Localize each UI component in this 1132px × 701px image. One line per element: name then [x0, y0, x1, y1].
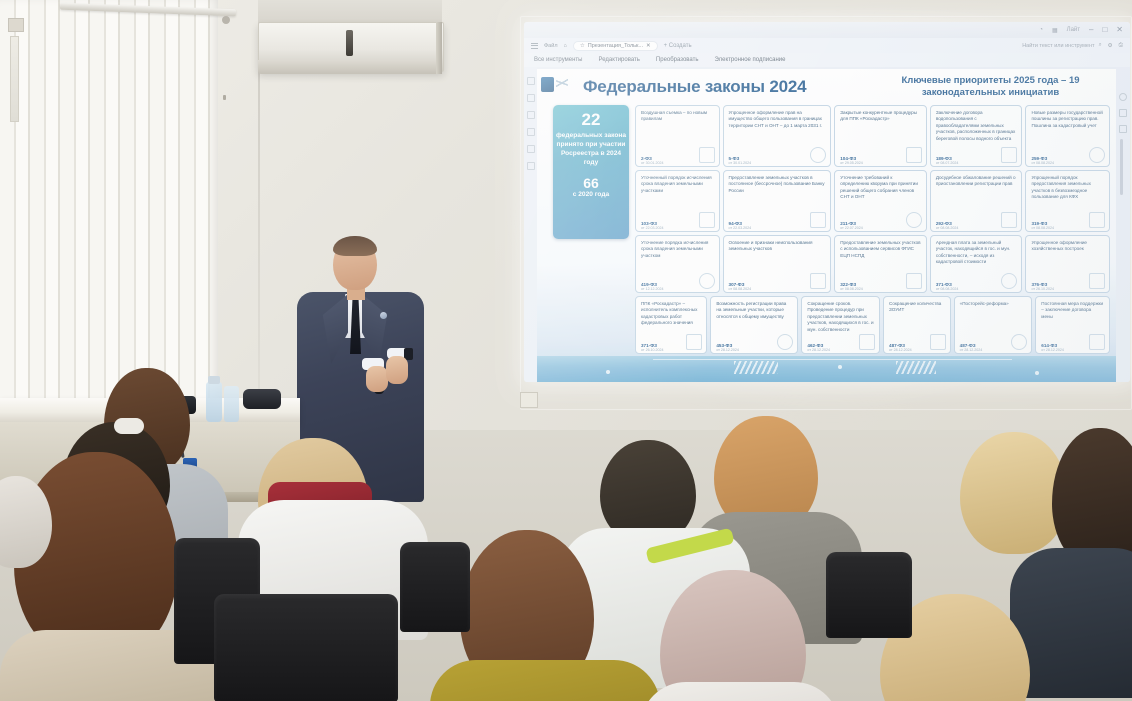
law-card[interactable]: Упрощенное оформление хозяйственных пост…: [1025, 235, 1110, 293]
stat-highlight-box: 22 федеральных закона принято при участи…: [553, 105, 629, 239]
law-card[interactable]: Освоение и признаки неиспользования земе…: [723, 235, 832, 293]
law-card-text: Воздушная съемка – по новым правилам: [641, 110, 714, 123]
law-card-date: от 26.10.2024: [1031, 287, 1054, 292]
window-titlebar: ◔ ▦ Лайт – □ ✕: [524, 22, 1130, 38]
law-card-date: от 22.03.2024: [729, 226, 752, 231]
logo-mark-icon: [556, 75, 568, 91]
lock-icon: [930, 334, 946, 350]
wall-socket: [520, 392, 538, 408]
rosreestr-logo: [541, 73, 567, 99]
drone-icon: [699, 147, 715, 163]
law-card-text: Упрощенное оформление прав на имущество …: [729, 110, 826, 129]
search-page-icon[interactable]: [1119, 93, 1127, 101]
chair-far-right: [826, 552, 912, 638]
law-card[interactable]: Сокращение количества ЗОУИТ487-ФЗот 28.1…: [883, 296, 951, 354]
law-card[interactable]: ППК «Роскадастр» – исполнитель комплексн…: [635, 296, 707, 354]
ac-display-icon: [346, 30, 353, 56]
law-cards-row: Уточненный порядок исчисления срока влад…: [635, 170, 1110, 232]
sprout-icon: [810, 273, 826, 289]
comment-icon[interactable]: [527, 94, 535, 102]
speaker-hand-left: [366, 366, 388, 392]
money-bag-icon: [1089, 147, 1105, 163]
highlight-icon[interactable]: [527, 111, 535, 119]
law-card[interactable]: Воздушная съемка – по новым правилам2-ФЗ…: [635, 105, 720, 167]
ac-louver: [258, 60, 442, 74]
law-card-date: от 08.07.2024: [936, 161, 959, 166]
footer-hatch-left: [734, 361, 778, 374]
maximize-button[interactable]: □: [1102, 26, 1107, 34]
wall-screw: [223, 95, 226, 100]
menu-item-edit[interactable]: Редактировать: [598, 57, 639, 63]
stat-caption: федеральных закона принято при участии Р…: [556, 131, 626, 167]
law-card[interactable]: Досудебное обжалование решений о приоста…: [930, 170, 1023, 232]
menu-icon[interactable]: [531, 43, 538, 49]
menu-item-convert[interactable]: Преобразовать: [656, 57, 699, 63]
law-card-text: Уточненный порядок исчисления срока влад…: [641, 175, 714, 194]
law-card[interactable]: Заключение договора водопользования с пр…: [930, 105, 1023, 167]
law-card[interactable]: Уточнение требований к определению квору…: [834, 170, 927, 232]
menu-item-all-tools[interactable]: Все инструменты: [534, 57, 582, 63]
law-cards-grid: Воздушная съемка – по новым правилам2-ФЗ…: [635, 105, 1110, 354]
footer-line: [653, 359, 1012, 360]
law-card-date: от 08.08.2024: [936, 287, 959, 292]
law-card[interactable]: Постоянная мера поддержки – заключение д…: [1035, 296, 1110, 354]
footer-dot-1: [606, 370, 610, 374]
law-card-date: от 08.08.2024: [1031, 226, 1054, 231]
law-card-text: Уточнение порядка исчисления срока владе…: [641, 240, 714, 259]
speaker-lapel-pin: [380, 312, 387, 319]
law-cards-row: ППК «Роскадастр» – исполнитель комплексн…: [635, 296, 1110, 354]
survey-icon: [686, 334, 702, 350]
law-card-text: Упрощенный порядок предоставления земель…: [1031, 175, 1104, 201]
law-card-text: Предоставление земельных участков в пост…: [729, 175, 826, 194]
people-icon: [906, 212, 922, 228]
law-card-date: от 28.12.2024: [889, 348, 912, 353]
law-card-date: от 30.01.2024: [729, 161, 752, 166]
hair-clip: [114, 418, 144, 434]
rotate-icon[interactable]: [1119, 125, 1127, 133]
law-card-text: Упрощенное оформление хозяйственных пост…: [1031, 240, 1104, 253]
app-name: Лайт: [1067, 27, 1080, 33]
home-plus-icon: [777, 334, 793, 350]
law-card[interactable]: Возможность регистрации права на земельн…: [710, 296, 798, 354]
law-card-text: Новые размеры государственной пошлины за…: [1031, 110, 1104, 129]
gavel-icon: [906, 147, 922, 163]
law-card-text: ППК «Роскадастр» – исполнитель комплексн…: [641, 301, 701, 327]
footer-hatch-right: [896, 361, 936, 374]
law-card-date: от 08.08.2024: [1031, 161, 1054, 166]
law-card[interactable]: Уточнение порядка исчисления срока владе…: [635, 235, 720, 293]
law-card[interactable]: Сокращение сроков. Проведение процедур п…: [801, 296, 880, 354]
search-box[interactable]: Найти текст или инструмент ⌕: [1022, 42, 1101, 49]
law-card-date: от 28.12.2024: [1041, 348, 1064, 353]
print-icon[interactable]: ⎙: [1119, 42, 1123, 49]
law-card-date: от 08.08.2024: [840, 287, 863, 292]
menu-item-esign[interactable]: Электронное подписание: [715, 57, 786, 63]
law-card-text: Предоставление земельных участков с испо…: [840, 240, 921, 259]
left-tool-rail[interactable]: [524, 67, 537, 382]
law-card[interactable]: Уточненный порядок исчисления срока влад…: [635, 170, 720, 232]
account-icon[interactable]: ◔: [1039, 27, 1043, 33]
law-card-date: от 30.01.2024: [641, 161, 664, 166]
close-button[interactable]: ✕: [1116, 26, 1123, 34]
law-card-date: от 22.07.2024: [840, 226, 863, 231]
right-tool-rail[interactable]: [1116, 67, 1130, 382]
air-conditioner: [258, 0, 442, 92]
law-card-date: от 28.12.2024: [716, 348, 739, 353]
wall-plate: [8, 18, 24, 32]
law-card-date: от 22.03.2024: [641, 226, 664, 231]
field-icon: [1089, 212, 1105, 228]
law-card[interactable]: «Посторейс-реформа»487-ФЗот 28.12.2024: [954, 296, 1033, 354]
tab-star-icon: ☆: [580, 43, 585, 49]
gear-icon[interactable]: ⚙: [1108, 43, 1113, 49]
chair-right: [400, 542, 470, 632]
law-card-date: от 28.12.2024: [807, 348, 830, 353]
ac-side-edge: [436, 22, 442, 74]
stat-number-secondary: 66: [556, 176, 626, 190]
fast-icon: [859, 334, 875, 350]
file-menu-label[interactable]: Файл: [544, 43, 558, 49]
home-icon[interactable]: ⌂: [564, 43, 567, 49]
document-tab[interactable]: ☆ Презентация_Тольк... ✕: [573, 41, 658, 51]
map-icon: [906, 273, 922, 289]
law-cards-row: Воздушная съемка – по новым правилам2-ФЗ…: [635, 105, 1110, 167]
law-card-text: Сокращение сроков. Проведение процедур п…: [807, 301, 874, 333]
law-card-date: от 29.05.2024: [840, 161, 863, 166]
law-card-text: Закрытые конкурентные процедуры для ППК …: [840, 110, 921, 123]
speaker-hair: [333, 236, 377, 256]
clock-icon: [699, 212, 715, 228]
new-tab-button[interactable]: + Создать: [664, 43, 692, 49]
stat-number: 22: [556, 111, 626, 128]
ac-top-panel: [258, 0, 442, 24]
document-viewport: Федеральные законы 2024 Ключевые приорит…: [524, 67, 1130, 382]
logo-box-icon: [541, 77, 554, 92]
vertical-blinds: [0, 0, 218, 412]
scales-icon: [1001, 212, 1017, 228]
tab-title: Презентация_Тольк...: [588, 43, 643, 49]
law-cards-row: Уточнение порядка исчисления срока владе…: [635, 235, 1110, 293]
slide-footer-band: [537, 356, 1116, 382]
law-card-date: от 28.12.2024: [960, 348, 983, 353]
law-card[interactable]: Упрощенный порядок предоставления земель…: [1025, 170, 1110, 232]
stamp-icon[interactable]: [527, 128, 535, 136]
law-card-text: Досудебное обжалование решений о приоста…: [936, 175, 1017, 188]
law-card-text: Освоение и признаки неиспользования земе…: [729, 240, 826, 253]
law-card-text: Постоянная мера поддержки – заключение д…: [1041, 301, 1104, 320]
presentation-room-scene: ◔ ▦ Лайт – □ ✕ Файл ⌂ ☆ Презентация_Толь…: [0, 0, 1132, 701]
bank-icon: [810, 212, 826, 228]
law-card-date: от 12.12.2024: [641, 287, 664, 292]
footer-dot-3: [1035, 371, 1039, 375]
chair-center: [214, 594, 398, 701]
slide-canvas: Федеральные законы 2024 Ключевые приорит…: [537, 69, 1116, 382]
water-bottle-cap: [208, 376, 220, 384]
law-card-date: от 26.10.2024: [641, 348, 664, 353]
law-card-text: Уточнение требований к определению квору…: [840, 175, 921, 201]
law-card-date: от 08.08.2024: [729, 287, 752, 292]
law-card-date: от 08.08.2024: [936, 226, 959, 231]
law-card-text: Заключение договора водопользования с пр…: [936, 110, 1017, 142]
speaker-hand-right: [386, 356, 408, 384]
search-placeholder: Найти текст или инструмент: [1022, 43, 1094, 49]
slide-subtitle: Ключевые приоритеты 2025 года – 19 закон…: [873, 75, 1108, 99]
law-card-text: «Посторейс-реформа»: [960, 301, 1027, 307]
search-icon[interactable]: ⌕: [1099, 42, 1102, 49]
law-card-text: Арендная плата за земельный участок, нах…: [936, 240, 1017, 266]
house-coin-icon: [1001, 273, 1017, 289]
slide-title: Федеральные законы 2024: [583, 77, 806, 97]
attach-icon[interactable]: [527, 145, 535, 153]
reform-icon: [1011, 334, 1027, 350]
law-card-text: Сокращение количества ЗОУИТ: [889, 301, 945, 314]
barn-icon: [1089, 273, 1105, 289]
document-icon: [810, 147, 826, 163]
blinds-rail-cap: [222, 16, 230, 24]
equipment-case: [243, 389, 281, 409]
law-card[interactable]: Упрощенное оформление прав на имущество …: [723, 105, 832, 167]
thumbnails-icon[interactable]: [527, 77, 535, 85]
projected-application-window[interactable]: ◔ ▦ Лайт – □ ✕ Файл ⌂ ☆ Презентация_Толь…: [524, 22, 1130, 382]
law-card-text: Возможность регистрации права на земельн…: [716, 301, 792, 320]
minimize-button[interactable]: –: [1089, 26, 1093, 34]
handshake-icon: [1089, 334, 1105, 350]
footer-dot-2: [838, 365, 842, 369]
water-icon: [1001, 147, 1017, 163]
vertical-scrollbar[interactable]: [1120, 139, 1123, 195]
water-bottle-second: [224, 386, 239, 422]
stat-caption-secondary: с 2020 года: [556, 191, 626, 198]
wall-strip: [10, 36, 19, 122]
page-fit-icon[interactable]: [1119, 109, 1127, 117]
calendar-clock-icon: [699, 273, 715, 289]
water-bottle: [206, 382, 222, 422]
law-card[interactable]: Предоставление земельных участков в пост…: [723, 170, 832, 232]
law-card[interactable]: Закрытые конкурентные процедуры для ППК …: [834, 105, 927, 167]
law-card[interactable]: Предоставление земельных участков с испо…: [834, 235, 927, 293]
signature-icon[interactable]: [527, 162, 535, 170]
menu-bar: Все инструменты Редактировать Преобразов…: [524, 53, 1130, 67]
law-card[interactable]: Новые размеры государственной пошлины за…: [1025, 105, 1110, 167]
law-card[interactable]: Арендная плата за земельный участок, нах…: [930, 235, 1023, 293]
tab-close-icon[interactable]: ✕: [646, 43, 651, 49]
grid-icon[interactable]: ▦: [1052, 27, 1058, 34]
tab-bar: Файл ⌂ ☆ Презентация_Тольк... ✕ + Создат…: [524, 38, 1130, 53]
